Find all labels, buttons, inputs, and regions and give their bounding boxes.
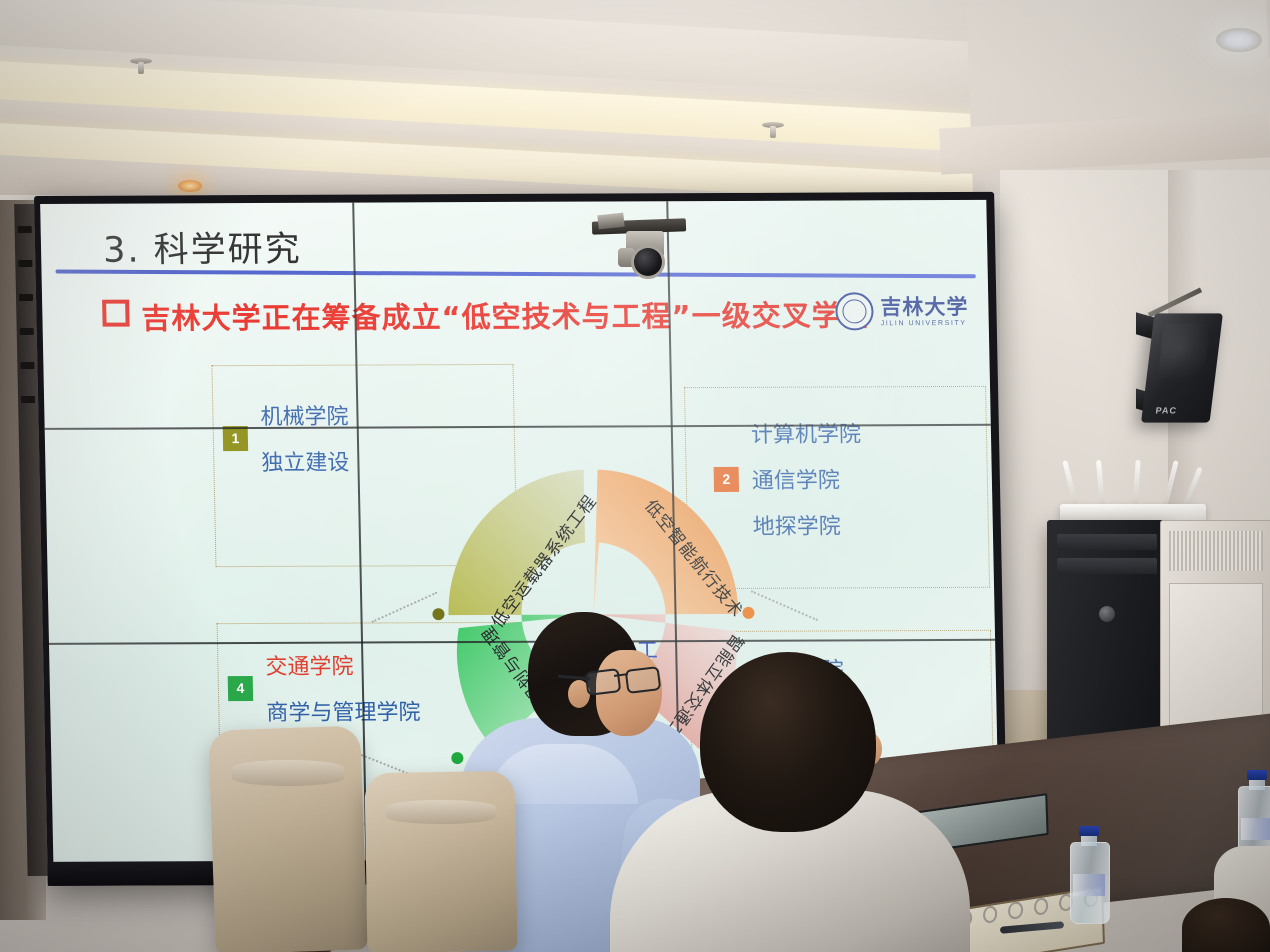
wifi-router (1060, 466, 1206, 528)
vent-slot (19, 294, 33, 301)
chair-headrest-fold (386, 800, 496, 824)
camera-lens-icon (634, 248, 662, 276)
square-bullet-icon (102, 300, 130, 327)
wall-speaker: PAC (1141, 313, 1223, 422)
group-2-line-3: 地探学院 (752, 508, 863, 540)
group-4-line-2: 商学与管理学院 (266, 694, 421, 727)
group-1-line-1: 机械学院 (260, 399, 349, 431)
chair (364, 771, 517, 952)
chair-headrest-fold (232, 760, 344, 786)
group-1-badge: 1 (223, 426, 249, 451)
vent-slot (18, 226, 32, 233)
group-4-badge: 4 (228, 675, 254, 700)
antenna-icon (1182, 467, 1202, 508)
water-bottle (1070, 826, 1108, 922)
speaker-brand-label: PAC (1155, 406, 1178, 416)
slide-section-title: 3. 科学研究 (103, 221, 303, 273)
rack-slot (1057, 558, 1157, 574)
group-2-line-1: 计算机学院 (751, 416, 862, 448)
vent-slot (21, 396, 35, 403)
rack-lock-icon (1099, 606, 1115, 622)
eyeglasses-icon (586, 668, 660, 692)
antenna-icon (1062, 460, 1078, 508)
person-third-head (1182, 898, 1270, 952)
headline-text: 吉林大学正在筹备成立“低空技术与工程”一级交叉学科 (141, 298, 872, 335)
connector-dot-top-right (742, 607, 754, 619)
vent-slot (20, 328, 34, 335)
group-4-line-1: 交通学院 (265, 648, 420, 681)
logo-name-en: JILIN UNIVERSITY (881, 319, 969, 326)
antenna-icon (1162, 460, 1178, 508)
connector-line (371, 592, 437, 623)
meeting-room-photo: 3. 科学研究 吉林大学正在筹备成立“低空技术与工程”一级交叉学科 吉林大学 J… (0, 0, 1270, 952)
vent-slot (18, 260, 32, 267)
cabinet-vent (1169, 531, 1263, 571)
group-1-line-2: 独立建设 (261, 445, 350, 477)
connector-dot-bottom-left (451, 752, 463, 764)
vent-slot (20, 362, 34, 369)
antenna-icon (1096, 460, 1105, 508)
person-attendee-head (700, 652, 876, 832)
sprinkler-icon (762, 122, 784, 142)
group-4-label: 4 交通学院 商学与管理学院 (227, 648, 421, 727)
connector-dot-top-left (432, 608, 444, 620)
group-2-line-2: 通信学院 (751, 462, 862, 494)
camera-motor (618, 248, 635, 267)
jlu-seal-icon (835, 292, 874, 330)
rack-slot (1057, 534, 1157, 550)
ptz-camera (592, 212, 692, 274)
title-underline (56, 269, 976, 278)
group-1-label: 1 机械学院 独立建设 (222, 399, 350, 478)
sprinkler-icon (130, 58, 152, 78)
camera-mount (597, 213, 624, 230)
logo-name-cn: 吉林大学 (880, 295, 968, 316)
jilin-university-logo: 吉林大学 JILIN UNIVERSITY (835, 292, 969, 331)
antenna-icon (1132, 460, 1140, 508)
downlight-icon (178, 180, 202, 192)
downlight-icon (1216, 28, 1262, 52)
connector-line (751, 590, 818, 621)
